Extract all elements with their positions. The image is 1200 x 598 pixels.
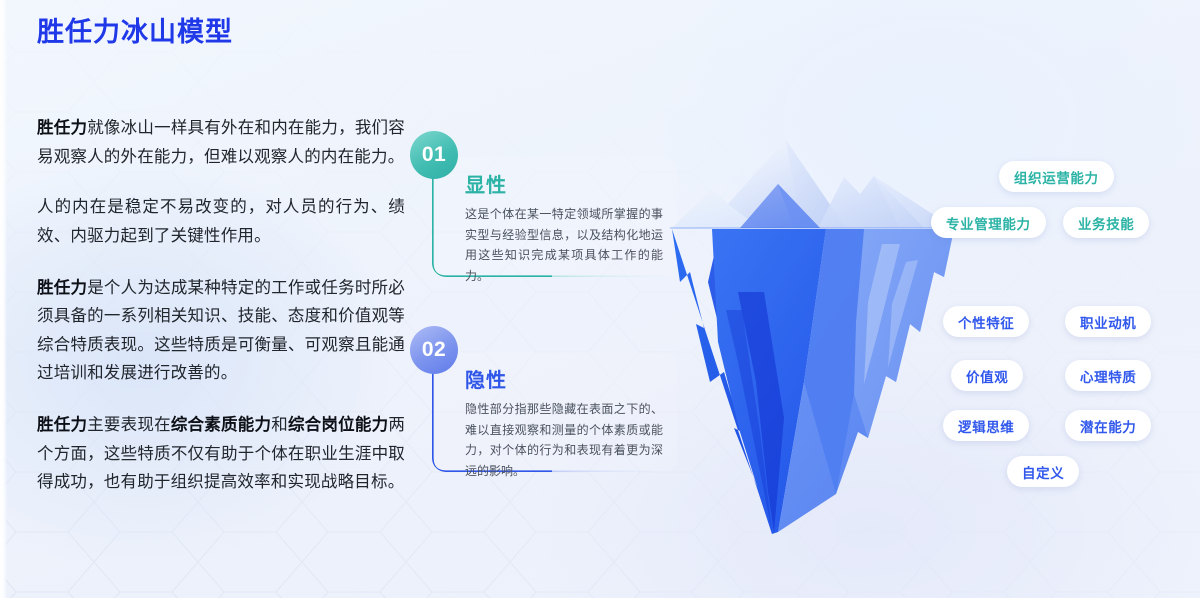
tag-label: 价值观 <box>966 366 1008 386</box>
intro-bold-4a: 综合素质能力 <box>171 416 271 434</box>
card-implicit-number: 02 <box>422 338 446 362</box>
tag-implicit-2[interactable]: 价值观 <box>951 360 1023 391</box>
tag-label: 职业动机 <box>1080 312 1136 332</box>
tag-label: 业务技能 <box>1078 213 1134 233</box>
intro-lead-3: 胜任力 <box>37 279 87 297</box>
tag-explicit-0[interactable]: 组织运营能力 <box>999 161 1114 192</box>
intro-paragraph-2: 人的内在是稳定不易改变的，对人员的行为、绩效、内驱力起到了关键性作用。 <box>37 193 405 250</box>
tag-label: 个性特征 <box>958 312 1014 332</box>
intro-lead-4: 胜任力 <box>37 416 87 434</box>
tag-implicit-6[interactable]: 自定义 <box>1007 456 1079 487</box>
card-explicit[interactable]: 01 显性 这是个体在某一特定领域所掌握的事实型与经验型信息，以及结构化地运用这… <box>432 157 677 277</box>
tag-implicit-1[interactable]: 职业动机 <box>1065 306 1151 337</box>
card-explicit-number: 01 <box>422 143 446 167</box>
tag-implicit-5[interactable]: 潜在能力 <box>1065 410 1151 441</box>
tag-label: 自定义 <box>1022 462 1064 482</box>
left-edge-stripe <box>0 0 7 598</box>
card-implicit-body: 隐性部分指那些隐藏在表面之下的、难以直接观察和测量的个体素质或能力，对个体的行为… <box>465 399 663 482</box>
tag-implicit-4[interactable]: 逻辑思维 <box>943 410 1029 441</box>
intro-paragraph-3: 胜任力是个人为达成某种特定的工作或任务时所必须具备的一系列相关知识、技能、态度和… <box>37 274 405 388</box>
intro-text-2: 人的内在是稳定不易改变的，对人员的行为、绩效、内驱力起到了关键性作用。 <box>37 198 405 244</box>
tag-label: 组织运营能力 <box>1014 167 1099 187</box>
intro-column: 胜任力冰山模型 胜任力就像冰山一样具有外在和内在能力，我们容易观察人的外在能力，… <box>37 16 405 497</box>
tag-label: 专业管理能力 <box>946 213 1031 233</box>
tag-label: 心理特质 <box>1080 366 1136 386</box>
card-explicit-body: 这是个体在某一特定领域所掌握的事实型与经验型信息，以及结构化地运用这些知识完成某… <box>465 204 663 287</box>
tag-label: 潜在能力 <box>1080 416 1136 436</box>
card-explicit-title: 显性 <box>465 169 507 198</box>
intro-paragraph-1: 胜任力就像冰山一样具有外在和内在能力，我们容易观察人的外在能力，但难以观察人的内… <box>37 114 405 171</box>
card-implicit[interactable]: 02 隐性 隐性部分指那些隐藏在表面之下的、难以直接观察和测量的个体素质或能力，… <box>432 352 677 472</box>
intro-paragraph-4: 胜任力主要表现在综合素质能力和综合岗位能力两个方面，这些特质不仅有助于个体在职业… <box>37 411 405 496</box>
page-title: 胜任力冰山模型 <box>37 16 405 48</box>
intro-text-4a: 主要表现在 <box>87 416 171 434</box>
iceberg-illustration <box>668 132 958 540</box>
tag-implicit-3[interactable]: 心理特质 <box>1065 360 1151 391</box>
tag-explicit-1[interactable]: 专业管理能力 <box>931 207 1046 238</box>
card-explicit-number-badge: 01 <box>410 131 458 179</box>
card-implicit-title: 隐性 <box>465 364 507 393</box>
intro-text-1: 就像冰山一样具有外在和内在能力，我们容易观察人的外在能力，但难以观察人的内在能力… <box>37 119 405 165</box>
tag-implicit-0[interactable]: 个性特征 <box>943 306 1029 337</box>
intro-bold-4b: 综合岗位能力 <box>288 416 388 434</box>
tag-label: 逻辑思维 <box>958 416 1014 436</box>
slide-canvas: 胜任力冰山模型 胜任力就像冰山一样具有外在和内在能力，我们容易观察人的外在能力，… <box>0 0 1200 598</box>
intro-text-3: 是个人为达成某种特定的工作或任务时所必须具备的一系列相关知识、技能、态度和价值观… <box>37 279 405 382</box>
card-implicit-number-badge: 02 <box>410 326 458 374</box>
intro-text-4b: 和 <box>271 416 288 434</box>
tag-explicit-2[interactable]: 业务技能 <box>1063 207 1149 238</box>
intro-lead-1: 胜任力 <box>37 119 87 137</box>
